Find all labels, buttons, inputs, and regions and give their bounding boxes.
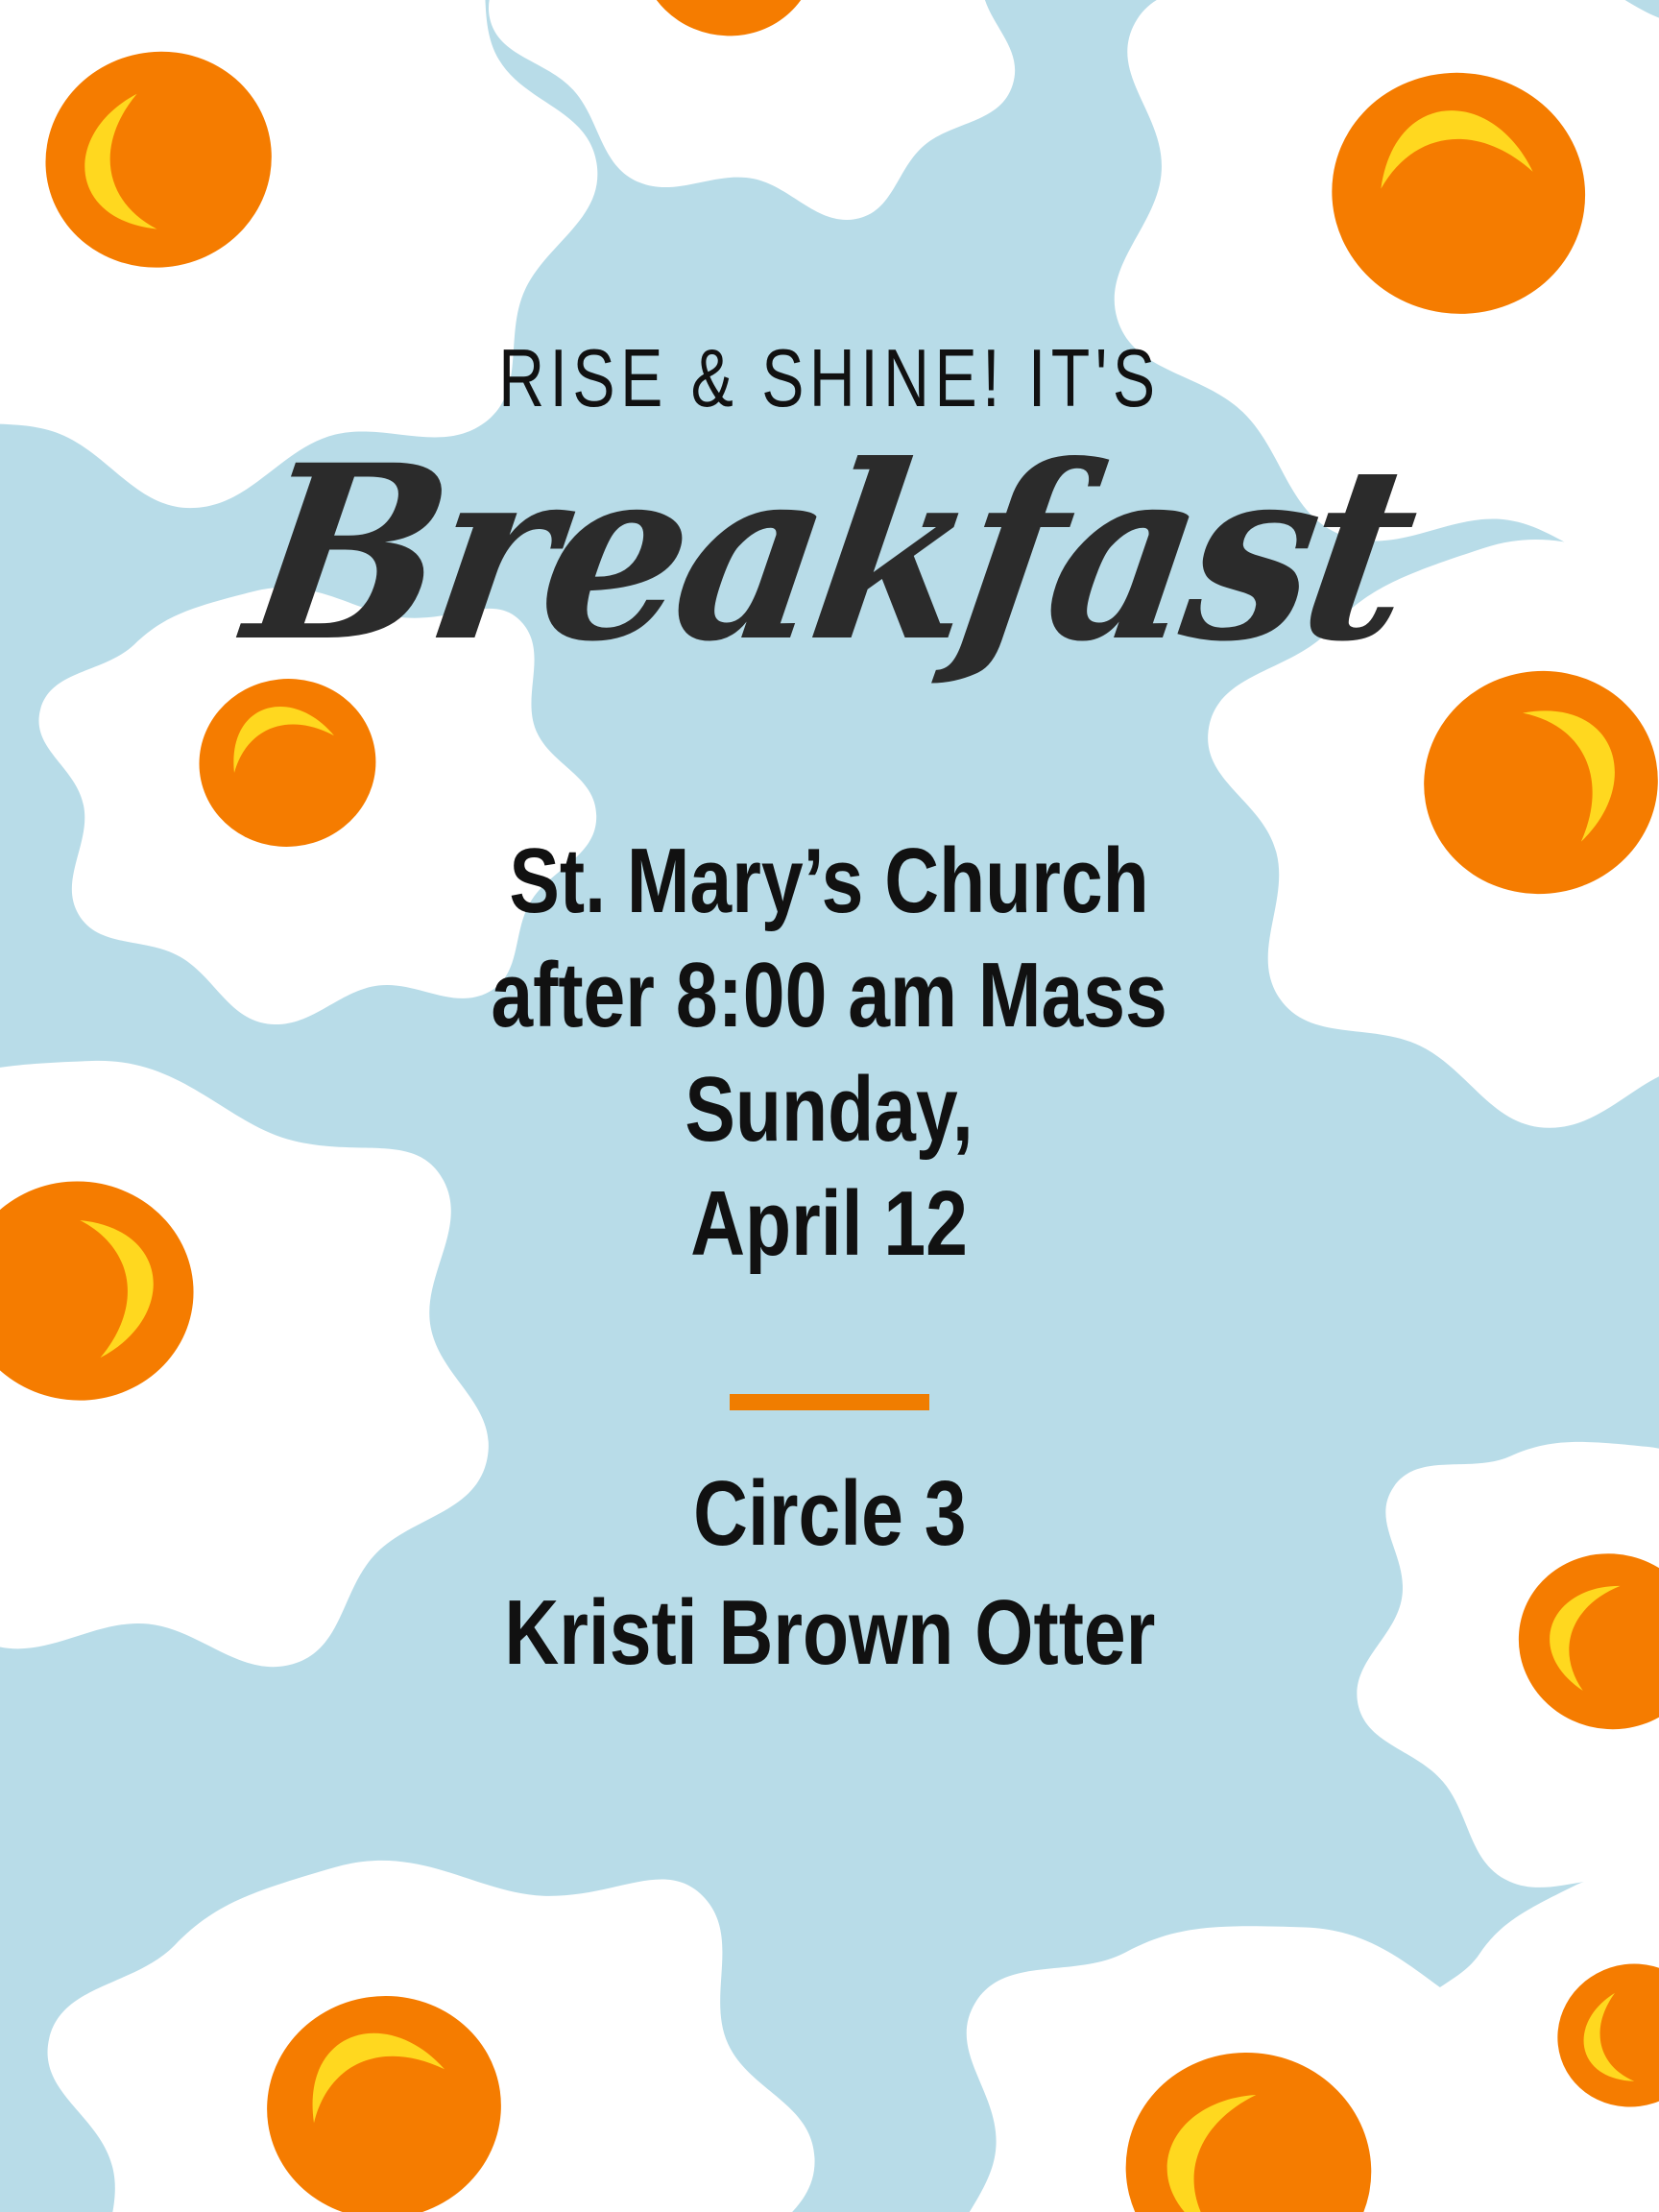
- footer-line-name: Kristi Brown Otter: [504, 1574, 1155, 1694]
- event-details-block: St. Mary’s Church after 8:00 am Mass Sun…: [417, 824, 1241, 1281]
- footer-line-group: Circle 3: [504, 1455, 1155, 1575]
- poster-content: RISE & SHINE! IT'S Breakfast St. Mary’s …: [0, 0, 1659, 2212]
- detail-line-date: April 12: [492, 1166, 1167, 1281]
- headline-script-word: Breakfast: [235, 427, 1424, 680]
- headline-kicker: RISE & SHINE! IT'S: [498, 338, 1160, 420]
- breakfast-flyer-poster: RISE & SHINE! IT'S Breakfast St. Mary’s …: [0, 0, 1659, 2212]
- orange-divider-bar: [730, 1394, 929, 1410]
- detail-line-venue: St. Mary’s Church: [492, 824, 1167, 938]
- detail-line-time: after 8:00 am Mass: [492, 938, 1167, 1052]
- host-block: Circle 3 Kristi Brown Otter: [433, 1455, 1227, 1695]
- detail-line-day: Sunday,: [492, 1052, 1167, 1166]
